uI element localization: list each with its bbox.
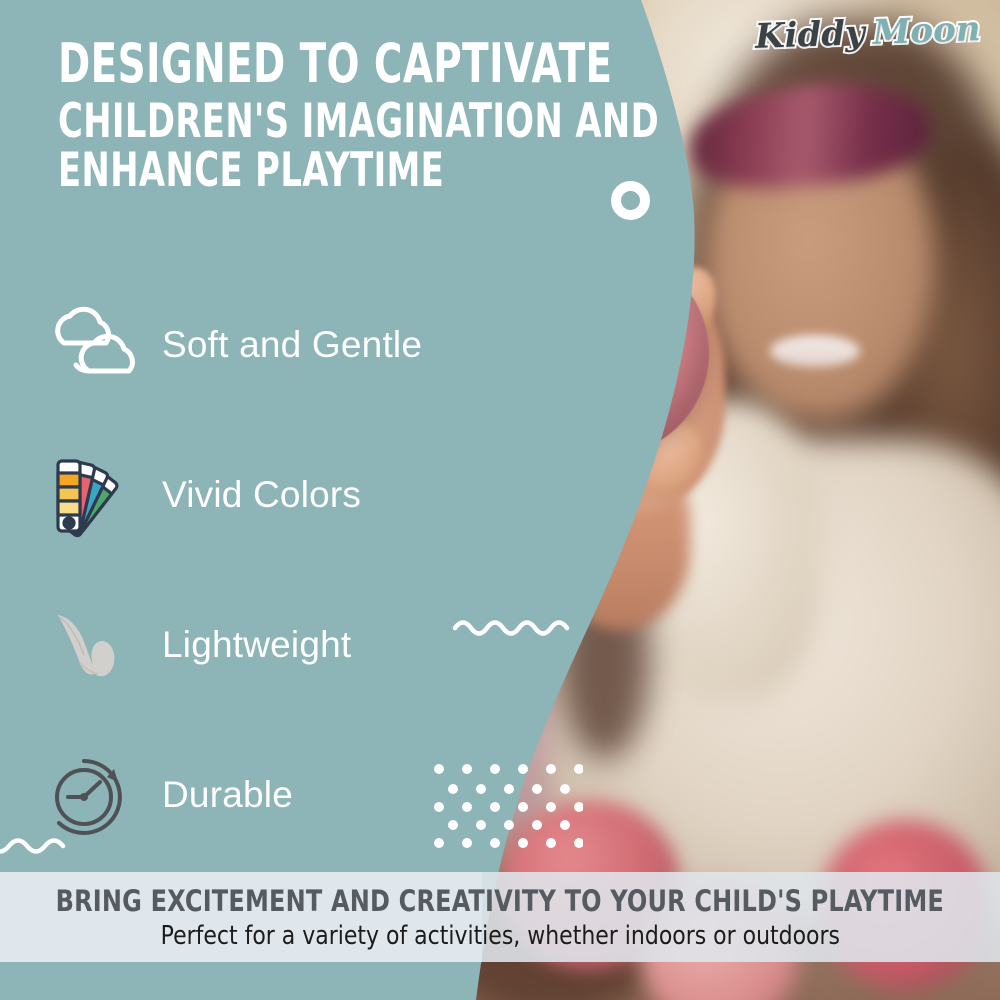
brand-logo: KiddyMoon — [754, 12, 981, 54]
feature-item-lightweight: Lightweight — [44, 586, 504, 704]
bottom-banner: Bring excitement and creativity to your … — [0, 872, 1000, 962]
headline-line-1: Designed to Captivate — [58, 36, 506, 91]
product-marketing-poster: Kiddy Moon KiddyMoon Designed to Captiva… — [0, 0, 1000, 1000]
page-title: Designed to Captivate Children's Imagina… — [58, 36, 506, 196]
wavy-line-icon — [452, 614, 586, 645]
dot-grid-icon — [433, 763, 583, 856]
feature-label: Durable — [162, 774, 293, 816]
feather-icon — [44, 599, 148, 691]
logo-word-kiddy: Kiddy — [754, 13, 865, 57]
banner-title: Bring excitement and creativity to your … — [56, 884, 944, 918]
poster-content: KiddyMoon Designed to Captivate Children… — [0, 0, 1000, 1000]
circle-outline-icon — [611, 181, 650, 220]
feature-item-soft-and-gentle: Soft and Gentle — [44, 286, 504, 404]
feature-label: Vivid Colors — [162, 474, 361, 516]
feature-item-vivid-colors: Vivid Colors — [44, 436, 504, 554]
feature-label: Soft and Gentle — [162, 324, 422, 366]
headline-line-2: Children's Imagination and — [58, 97, 506, 146]
banner-subtitle: Perfect for a variety of activities, whe… — [160, 921, 839, 951]
clock-arrow-icon — [44, 749, 148, 841]
feature-label: Lightweight — [162, 624, 351, 666]
wavy-line-icon — [0, 832, 100, 863]
logo-word-moon: Moon — [872, 9, 981, 53]
color-swatch-fan-icon — [44, 449, 148, 541]
headline-line-3: Enhance Playtime — [58, 146, 506, 195]
clouds-icon — [44, 299, 148, 391]
